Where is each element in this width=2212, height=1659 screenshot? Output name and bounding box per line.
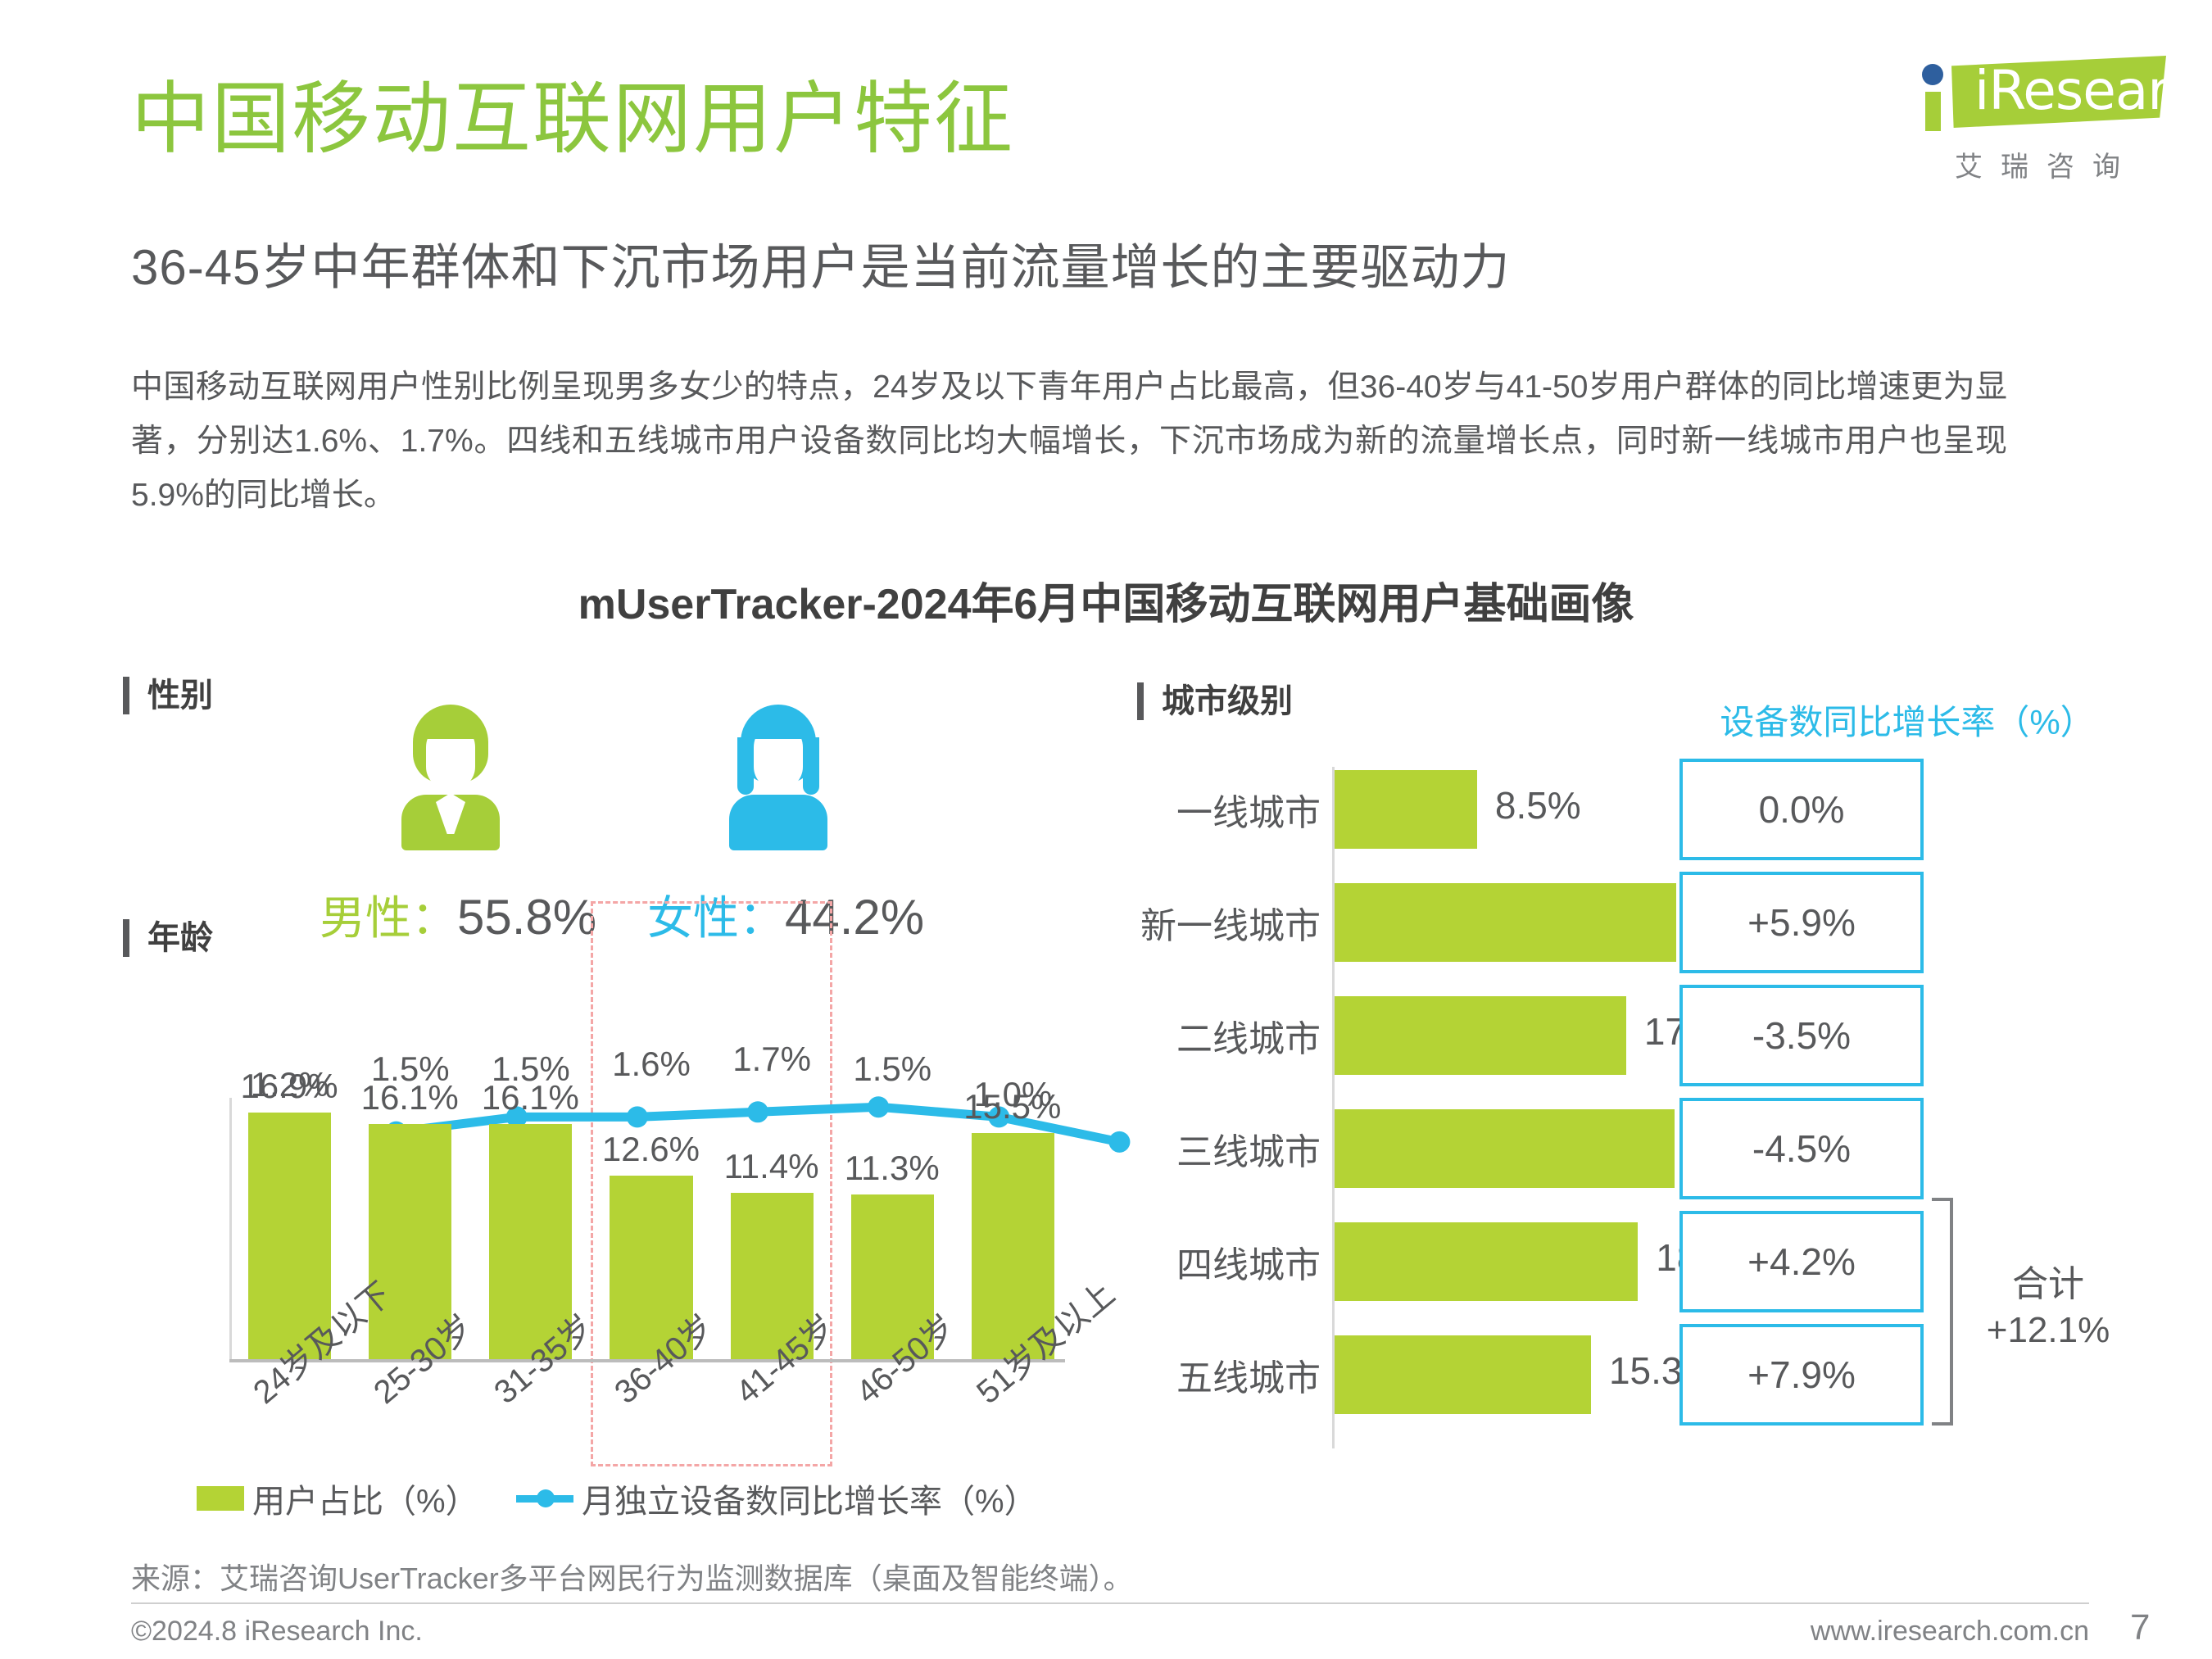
age-bar-value-label: 11.4% (708, 1147, 836, 1186)
age-line-value-label: 1.5% (467, 1049, 595, 1089)
gender-male-name: 男性： (320, 892, 457, 944)
logo-i-dot-icon (1922, 64, 1943, 85)
city-bar (1335, 1109, 1675, 1188)
city-row: 三线城市20.3%-4.5% (1137, 1093, 2145, 1206)
age-bar-value-label: 11.3% (828, 1149, 956, 1188)
city-row: 二线城市17.4%-3.5% (1137, 980, 2145, 1093)
city-bar (1335, 883, 1676, 962)
legend-item-line: 月独立设备数同比增长率（%） (516, 1475, 1037, 1522)
page-title: 中国移动互联网用户特征 (131, 79, 1014, 161)
section-header-city: 城市级别 (1137, 682, 1293, 720)
city-growth-box: -4.5% (1679, 1098, 1924, 1199)
city-name-label: 二线城市 (1137, 1009, 1321, 1062)
city-growth-box: +5.9% (1679, 872, 1924, 973)
legend-item-bar: 用户占比（%） (197, 1475, 478, 1522)
age-bar-value-label: 12.6% (587, 1130, 714, 1169)
chart-title: mUserTracker-2024年6月中国移动互联网用户基础画像 (0, 569, 2212, 631)
page-subtitle: 36-45岁中年群体和下沉市场用户是当前流量增长的主要驱动力 (131, 228, 1510, 299)
age-line-value-label: 1.2% (226, 1065, 354, 1104)
gender-male: 男性：55.8% (320, 705, 582, 948)
city-row: 新一线城市20.4%+5.9% (1137, 867, 2145, 980)
city-name-label: 五线城市 (1137, 1349, 1321, 1401)
age-line-value-label: 1.5% (828, 1049, 956, 1089)
city-bar-value-label: 8.5% (1495, 783, 1581, 827)
logo-mark: iResearch (1917, 48, 2171, 138)
page-number: 7 (2130, 1607, 2150, 1648)
city-growth-box: -3.5% (1679, 985, 1924, 1086)
intro-paragraph: 中国移动互联网用户性别比例呈现男多女少的特点，24岁及以下青年用户占比最高，但3… (131, 360, 2007, 523)
city-growth-box: 0.0% (1679, 759, 1924, 860)
age-line-value-label: 1.6% (587, 1045, 715, 1084)
iresearch-logo: iResearch 艾瑞咨询 (1917, 48, 2179, 203)
age-line-value-label: 1.0% (949, 1075, 1077, 1114)
footer-website: www.iresearch.com.cn (1720, 1616, 2089, 1648)
age-line-value-label: 1.7% (708, 1040, 836, 1079)
city-bar (1335, 1222, 1638, 1301)
female-person-icon (716, 705, 841, 850)
city-bar (1335, 1335, 1591, 1414)
logo-wordmark: iResearch (1974, 64, 2212, 118)
logo-chinese-name: 艾瑞咨询 (1955, 144, 2138, 184)
city-bar (1335, 996, 1626, 1075)
city-bar (1335, 770, 1477, 849)
city-row: 五线城市15.3%+7.9% (1137, 1319, 2145, 1432)
section-header-gender: 性别 (123, 677, 213, 714)
age-chart-legend: 用户占比（%） 月独立设备数同比增长率（%） (197, 1475, 1098, 1524)
age-line-value-label: 1.5% (347, 1049, 474, 1089)
city-name-label: 新一线城市 (1137, 896, 1321, 949)
age-chart: 16.9%1.2%16.1%1.5%16.1%1.5%12.6%1.6%11.4… (123, 959, 1090, 1499)
legend-line-swatch-icon (516, 1486, 573, 1511)
city-growth-header: 设备数同比增长率（%） (1678, 695, 2137, 745)
city-name-label: 四线城市 (1137, 1235, 1321, 1288)
footer-copyright: ©2024.8 iResearch Inc. (131, 1616, 423, 1648)
city-row: 一线城市8.5%0.0% (1137, 754, 2145, 867)
city-chart: 设备数同比增长率（%） 合计 +12.1% 一线城市8.5%0.0%新一线城市2… (1137, 737, 2145, 1458)
gender-block: 男性：55.8% 女性：44.2% (270, 705, 860, 918)
legend-bar-swatch-icon (197, 1486, 244, 1511)
gender-male-value: 55.8% (457, 890, 596, 945)
city-growth-box: +7.9% (1679, 1324, 1924, 1426)
city-growth-box: +4.2% (1679, 1211, 1924, 1312)
page-header: 中国移动互联网用户特征 36-45岁中年群体和下沉市场用户是当前流量增长的主要驱… (0, 0, 2212, 328)
gender-male-label: 男性：55.8% (320, 882, 582, 948)
city-name-label: 一线城市 (1137, 783, 1321, 836)
city-name-label: 三线城市 (1137, 1122, 1321, 1175)
city-row: 四线城市18.1%+4.2% (1137, 1206, 2145, 1319)
source-note: 来源：艾瑞咨询UserTracker多平台网民行为监测数据库（桌面及智能终端）。 (131, 1555, 1133, 1598)
legend-line-label: 月独立设备数同比增长率（%） (582, 1475, 1037, 1522)
male-person-icon (388, 705, 513, 850)
section-header-age: 年龄 (123, 919, 213, 957)
footer-divider (131, 1602, 2089, 1604)
logo-i-stem-icon (1925, 92, 1941, 131)
legend-bar-label: 用户占比（%） (252, 1475, 478, 1522)
